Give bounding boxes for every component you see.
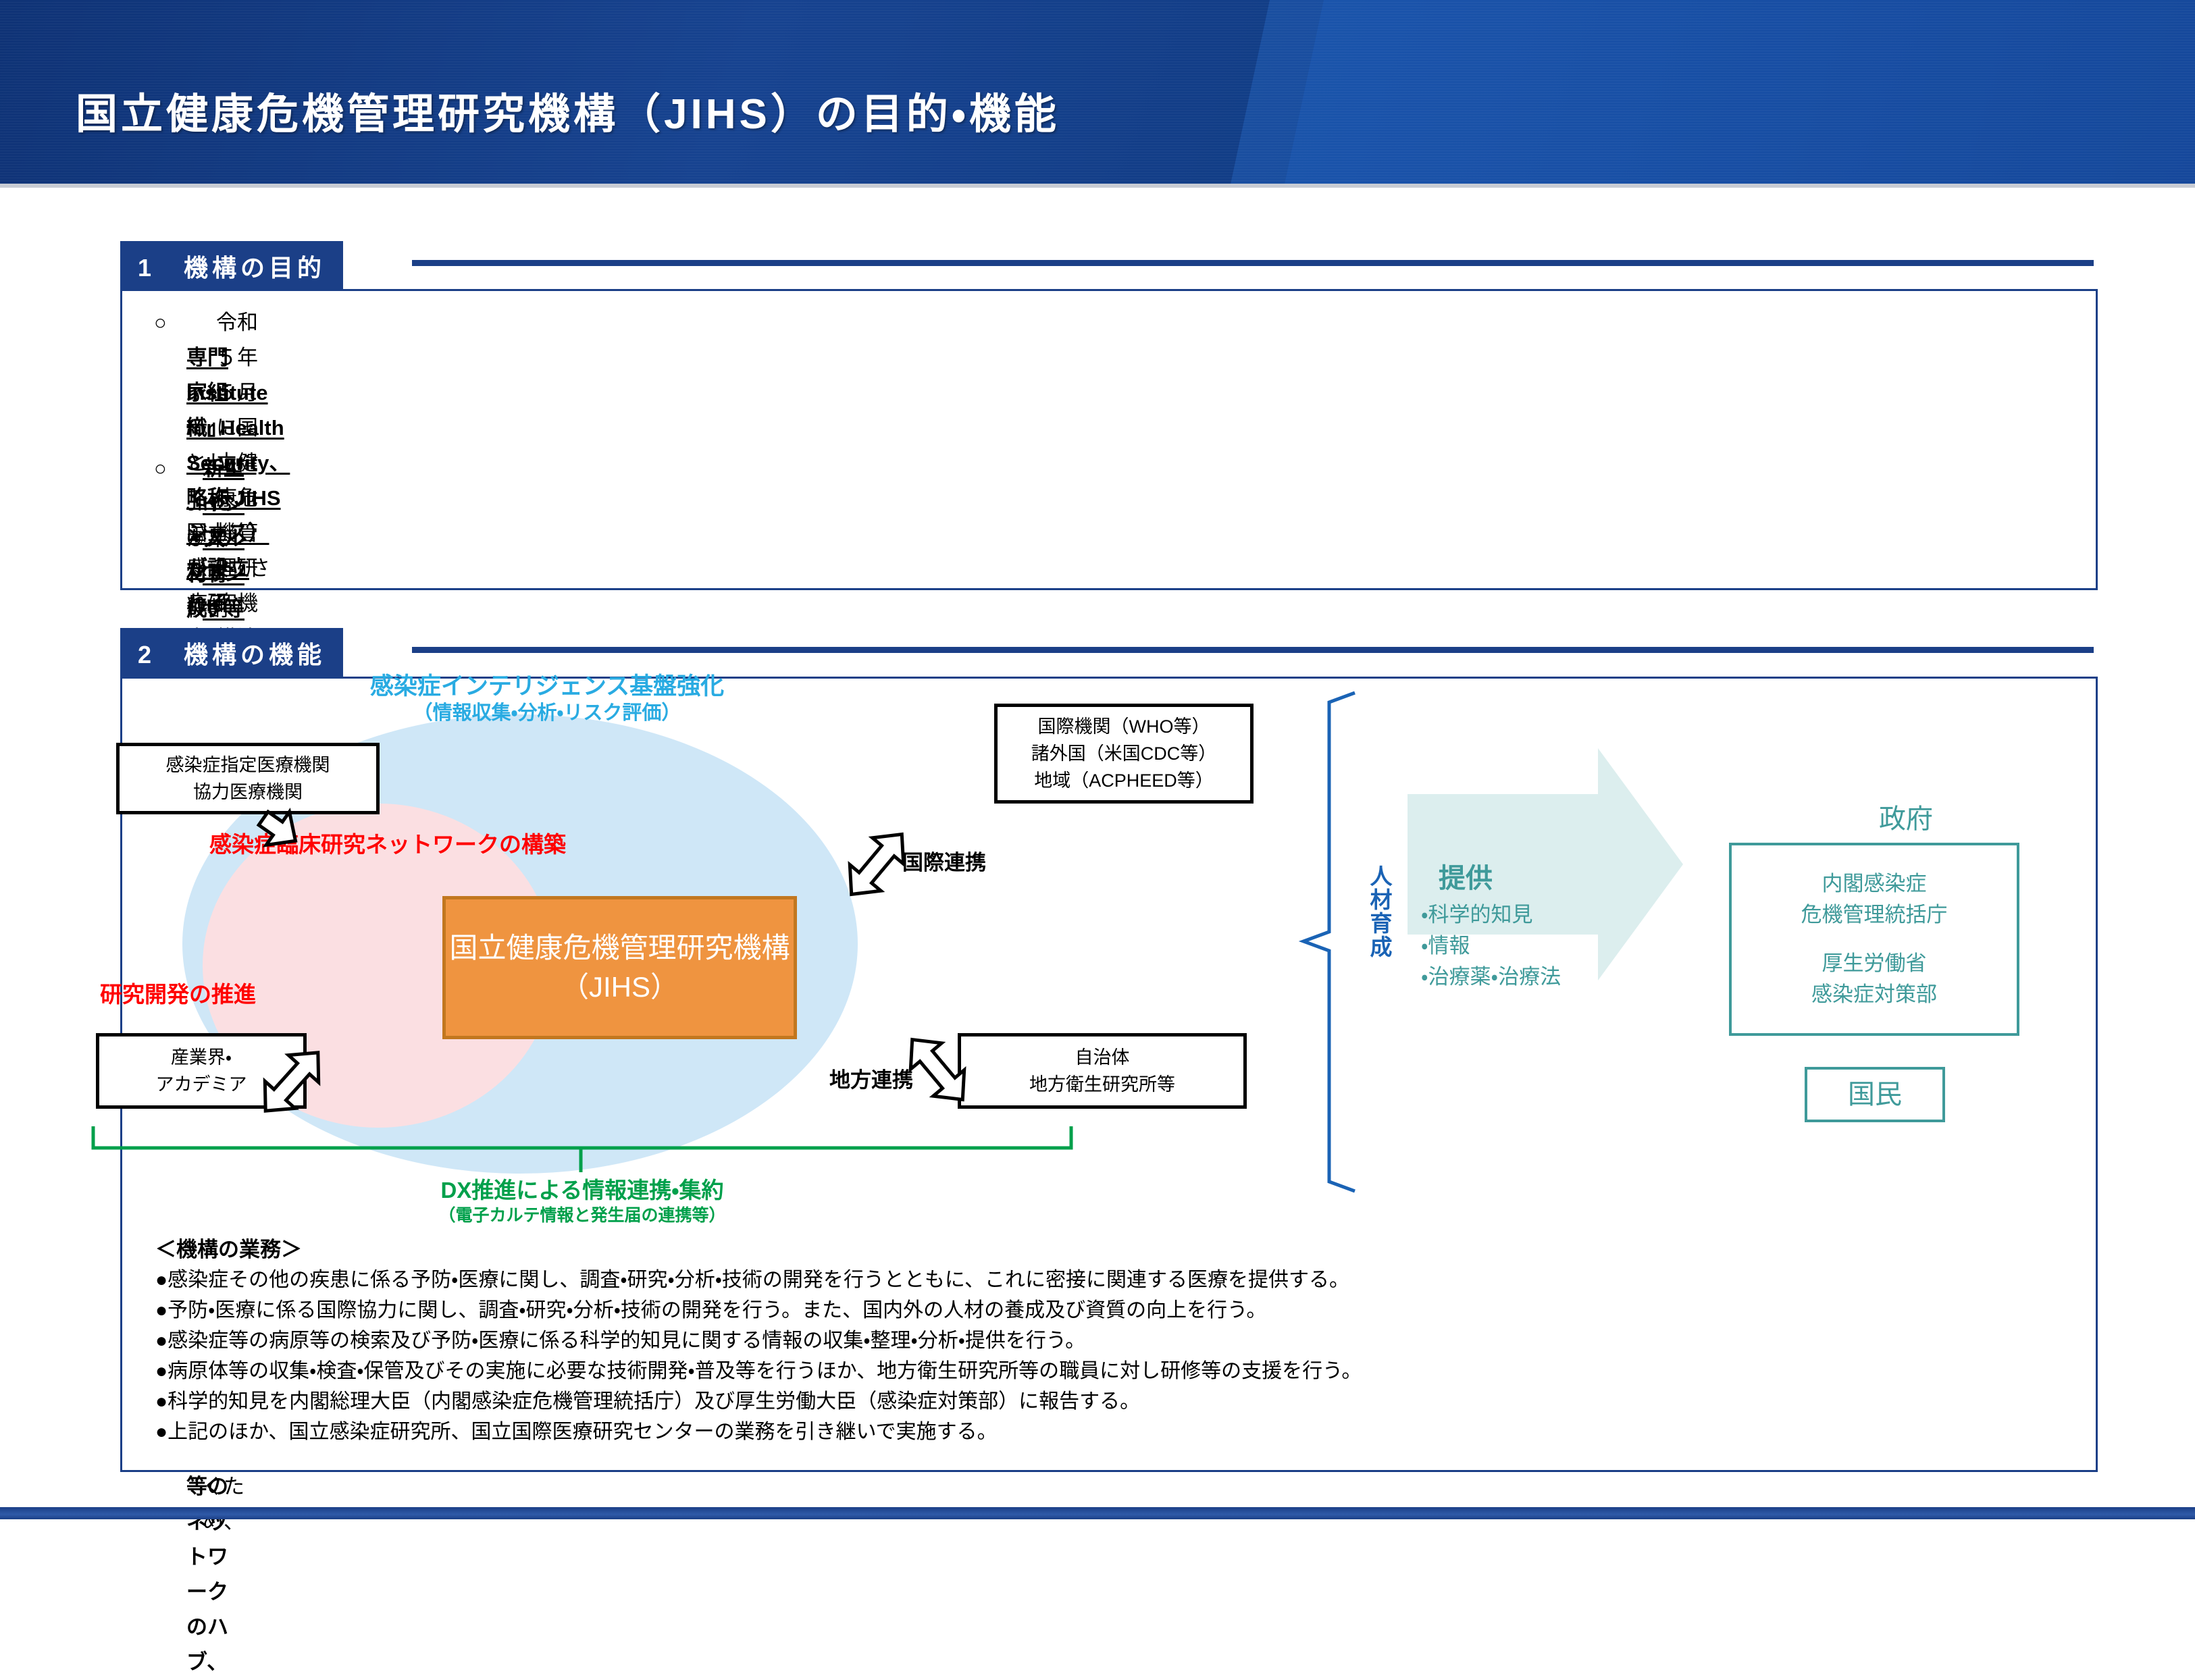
government-title: 政府 bbox=[1879, 797, 1933, 836]
section-1-panel bbox=[120, 289, 2098, 590]
hr-development-label: 人材育成 bbox=[1363, 864, 1395, 959]
bullet-marker-2: ○ bbox=[154, 451, 167, 486]
duty-item-1: ●感染症その他の疾患に係る予防・医療に関し、調査・研究・分析・技術の開発を行うと… bbox=[155, 1265, 2100, 1295]
international-arrow-icon bbox=[836, 821, 918, 907]
provide-item-2: ・情報 bbox=[1421, 930, 1470, 962]
slide-root: 国立健康危機管理研究機構（JIHS）の目的・機能 1 機構の目的 ○ 令和５年５… bbox=[0, 0, 2195, 1519]
industry-arrow-icon bbox=[251, 1039, 333, 1124]
gov-line-2: 危機管理統括庁 bbox=[1801, 899, 1948, 930]
duty-item-3: ●感染症等の病原等の検索及び予防・医療に係る科学的知見に関する情報の収集・整理・… bbox=[155, 1325, 2100, 1356]
government-agencies-box: 内閣感染症 危機管理統括庁 厚生労働省 感染症対策部 bbox=[1729, 843, 2019, 1036]
provide-item-1: ・科学的知見 bbox=[1421, 899, 1533, 930]
duty-item-5: ●科学的知見を内閣総理大臣（内閣感染症危機管理統括庁）及び厚生労働大臣（感染症対… bbox=[155, 1386, 2100, 1417]
gov-line-4: 感染症対策部 bbox=[1811, 979, 1937, 1010]
duty-item-4: ●病原体等の収集・検査・保管及びその実施に必要な技術開発・普及等を行うほか、地方… bbox=[155, 1356, 2100, 1386]
gov-line-3: 厚生労働省 bbox=[1822, 948, 1927, 979]
section-1-rule bbox=[412, 260, 2094, 266]
duty-item-2: ●予防・医療に係る国際協力に関し、調査・研究・分析・技術の開発を行う。また、国内… bbox=[155, 1295, 2100, 1325]
header-bottom-rule bbox=[0, 184, 2195, 188]
footer-rule bbox=[0, 1507, 2195, 1519]
bullet-marker-1: ○ bbox=[154, 305, 167, 340]
gov-line-1: 内閣感染症 bbox=[1822, 868, 1927, 899]
functions-diagram: 感染症インテリジェンス基盤強化 （情報収集・分析・リスク評価） 国立健康危機管理… bbox=[135, 662, 2094, 1215]
dx-subtitle-label: （電子カルテ情報と発生届の連携等） bbox=[420, 1202, 744, 1226]
page-title: 国立健康危機管理研究機構（JIHS）の目的・機能 bbox=[76, 80, 1060, 140]
regional-arrow-icon bbox=[897, 1026, 979, 1112]
hr-development-bracket bbox=[1303, 693, 1355, 1191]
duties-heading: ＜機構の業務＞ bbox=[155, 1234, 2100, 1265]
provide-title: 提供 bbox=[1439, 856, 1493, 895]
dx-bracket bbox=[93, 1126, 1071, 1172]
organization-duties-list: ＜機構の業務＞ ●感染症その他の疾患に係る予防・医療に関し、調査・研究・分析・技… bbox=[155, 1234, 2100, 1447]
provide-item-3: ・治療薬・治療法 bbox=[1421, 962, 1561, 993]
section-2-rule bbox=[412, 647, 2094, 653]
dx-title-label: DX推進による情報連携・集約 bbox=[440, 1172, 724, 1205]
citizens-box: 国民 bbox=[1805, 1067, 1945, 1122]
section-1-chip: 1 機構の目的 bbox=[120, 241, 343, 292]
clinical-network-arrow-icon bbox=[252, 802, 307, 857]
duty-item-6: ●上記のほか、国立感染症研究所、国立国際医療研究センターの業務を引き継いで実施す… bbox=[155, 1417, 2100, 1447]
